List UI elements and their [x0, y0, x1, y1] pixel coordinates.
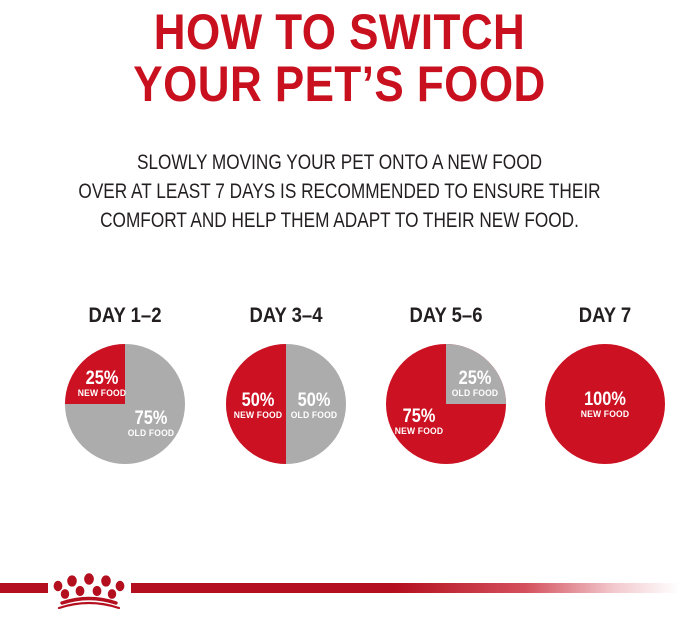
day-label-2: DAY 3–4	[220, 305, 352, 327]
day-label-3: DAY 5–6	[380, 305, 512, 327]
pie-cell-day-7: DAY 7 100% NEW FOOD	[530, 305, 679, 465]
day-label-1: DAY 1–2	[59, 305, 191, 327]
pie-chart-day-3-4: 50% NEW FOOD 50% OLD FOOD	[225, 343, 347, 465]
subtitle-line-3: COMFORT AND HELP THEM ADAPT TO THEIR NEW…	[61, 206, 618, 235]
slice-new-food-2	[226, 344, 286, 464]
subtitle-line-1: SLOWLY MOVING YOUR PET ONTO A NEW FOOD	[61, 148, 618, 177]
footer-bar-right	[131, 583, 679, 593]
pie-chart-row: DAY 1–2 25% NEW FOOD 75% OLD FOOD DAY 3–…	[0, 305, 679, 495]
slice-new-food-1	[65, 344, 125, 404]
footer-bar-left	[0, 583, 48, 593]
pie-svg-3	[385, 343, 507, 465]
pie-svg-1	[64, 343, 186, 465]
pie-chart-day-7: 100% NEW FOOD	[544, 343, 666, 465]
pie-cell-day-5-6: DAY 5–6 25% OLD FOOD 75% NEW FOOD	[371, 305, 521, 465]
subtitle-line-2: OVER AT LEAST 7 DAYS IS RECOMMENDED TO E…	[61, 177, 618, 206]
pie-chart-day-1-2: 25% NEW FOOD 75% OLD FOOD	[64, 343, 186, 465]
pie-svg-4	[544, 343, 666, 465]
title-line-2: YOUR PET’S FOOD	[41, 58, 639, 110]
pie-cell-day-3-4: DAY 3–4 50% NEW FOOD 50% OLD FOOD	[211, 305, 361, 465]
day-label-4: DAY 7	[539, 305, 671, 327]
footer	[0, 555, 679, 621]
page-title: HOW TO SWITCH YOUR PET’S FOOD	[0, 0, 679, 110]
slice-new-food-4	[545, 344, 665, 464]
pie-cell-day-1-2: DAY 1–2 25% NEW FOOD 75% OLD FOOD	[50, 305, 200, 465]
royal-canin-crown-icon	[47, 569, 131, 609]
subtitle: SLOWLY MOVING YOUR PET ONTO A NEW FOOD O…	[0, 148, 679, 235]
pie-chart-day-5-6: 25% OLD FOOD 75% NEW FOOD	[385, 343, 507, 465]
title-line-1: HOW TO SWITCH	[41, 6, 639, 58]
slice-old-food-3	[446, 344, 506, 404]
pie-svg-2	[225, 343, 347, 465]
